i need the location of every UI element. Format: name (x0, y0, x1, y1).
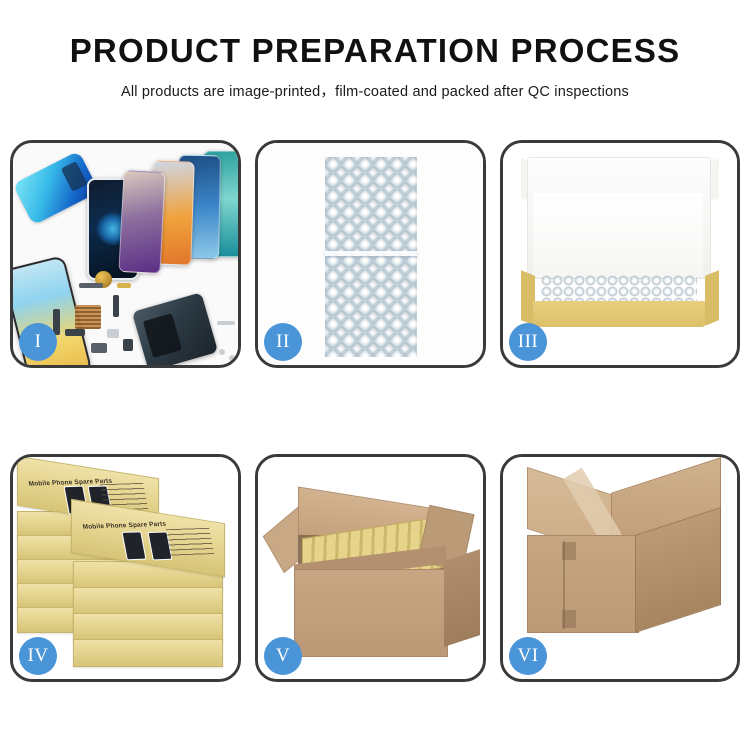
bubble-layer-back (325, 157, 417, 357)
product-preparation-infographic: PRODUCT PREPARATION PROCESS All products… (0, 0, 750, 750)
vibrator-icon (123, 339, 133, 351)
carton-edge-seam (563, 541, 565, 629)
carton-front-panel (294, 569, 448, 657)
page-title: PRODUCT PREPARATION PROCESS (0, 34, 750, 67)
step-badge-2: II (264, 323, 302, 361)
sealed-carton-icon: VI (503, 457, 737, 679)
phone-logic-board-icon (132, 292, 218, 365)
step-badge-3: III (509, 323, 547, 361)
bubble-wrap-sheet (325, 157, 417, 357)
wrap-seam (325, 251, 417, 256)
stacked-boxes-icon: Mobile Phone Spare Parts Mobile Phone Sp… (13, 457, 238, 679)
step-badge-1: I (19, 323, 57, 361)
mailer-front-panel (533, 301, 705, 327)
bubble-wrapped-contents-icon (541, 275, 697, 303)
foam-sheet-icon (533, 193, 703, 277)
carton-front-face (527, 535, 639, 633)
step-panel-4: Mobile Phone Spare Parts Mobile Phone Sp… (10, 454, 241, 682)
stacked-box-item (73, 587, 223, 615)
speaker-mesh-icon (65, 329, 85, 336)
step-badge-6: VI (509, 637, 547, 675)
box-spec-lines (166, 528, 214, 556)
step-panel-3: III (500, 140, 740, 368)
phone-display-purple-icon (118, 170, 165, 274)
steps-grid: I II (10, 140, 740, 682)
box-label-text: Mobile Phone Spare Parts (82, 521, 167, 531)
step-panel-5: V (255, 454, 486, 682)
step-badge-5: V (264, 637, 302, 675)
open-carton-icon: V (258, 457, 483, 679)
stacked-box-item (73, 639, 223, 667)
screw-icon (219, 349, 225, 355)
step-badge-4: IV (19, 637, 57, 675)
phone-parts-icon: I (13, 143, 238, 365)
stacked-box-item (73, 613, 223, 641)
step-panel-1: I (10, 140, 241, 368)
tweezers-icon (217, 321, 235, 325)
camera-module-icon (107, 329, 119, 338)
box-product-image (122, 531, 147, 560)
step-panel-2: II (255, 140, 486, 368)
header: PRODUCT PREPARATION PROCESS All products… (0, 0, 750, 101)
open-mailer-box-icon: III (503, 143, 737, 365)
screw-icon (229, 355, 235, 361)
gold-connector-icon (117, 283, 131, 288)
carton-side-panel (444, 549, 480, 647)
flex-cable-icon (79, 283, 103, 288)
page-subtitle: All products are image-printed，film-coat… (0, 80, 750, 101)
button-flex-icon (113, 295, 119, 317)
chip-grid-icon (75, 305, 101, 329)
battery-connector-icon (91, 343, 107, 353)
mailer-side-right (705, 270, 719, 326)
step-panel-6: VI (500, 454, 740, 682)
bubble-wrap-icon: II (258, 143, 483, 365)
